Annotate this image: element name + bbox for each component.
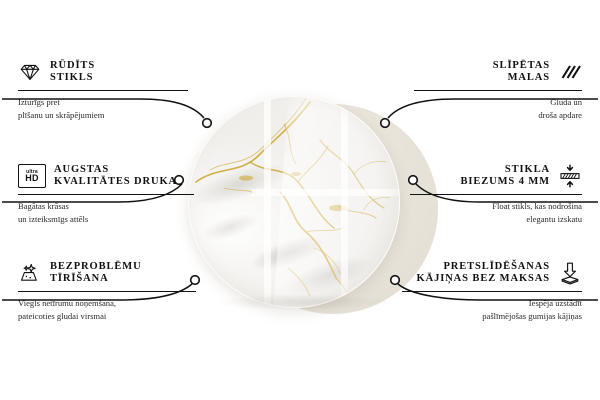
feature-tempered-glass: RŪDĪTS STIKLS Izturīgs pret plīšanu un s… [18,60,188,121]
divider [410,194,582,195]
feature-title: PRETSLĪDĒŠANAS KĀJIŅAS BEZ MAKSAS [417,261,550,286]
feature-anti-slip-feet: PRETSLĪDĒŠANAS KĀJIŅAS BEZ MAKSAS Iespēj… [402,261,582,322]
divider [402,291,582,292]
divider [414,90,582,91]
thickness-arrows-icon [558,164,582,188]
divider [18,90,188,91]
infographic-stage: RŪDĪTS STIKLS Izturīgs pret plīšanu un s… [0,0,600,400]
diagonal-stripes-icon [558,60,582,84]
sparkle-cleaning-icon [18,261,42,285]
connector-dot [381,119,390,128]
feature-title: STIKLA BIEZUMS 4 MM [460,164,550,189]
press-pad-icon [558,261,582,285]
feature-title: SLĪPĒTAS MALAS [493,60,550,85]
feature-high-quality-print: ultra HD AUGSTAS KVALITĀTES DRUKA Bagāta… [18,164,194,225]
connector-dot [203,119,212,128]
feature-polished-edges: SLĪPĒTAS MALAS Gluda un droša apdare [414,60,582,121]
feature-glass-thickness: STIKLA BIEZUMS 4 MM Float stikls, kas no… [410,164,582,225]
ultra-hd-icon: ultra HD [18,164,46,188]
feature-description: Gluda un droša apdare [414,96,582,121]
divider [18,291,196,292]
feature-description: Bagātas krāsas un izteiksmīgs attēls [18,200,194,225]
divider [18,194,194,195]
diamond-icon [18,60,42,84]
feature-description: Izturīgs pret plīšanu un skrāpējumiem [18,96,188,121]
feature-title: RŪDĪTS STIKLS [50,60,95,85]
feature-description: Float stikls, kas nodrošina elegantu izs… [410,200,582,225]
feature-easy-cleaning: BEZPROBLĒMU TĪRĪŠANA Viegls netīrumu noņ… [18,261,196,322]
feature-title: BEZPROBLĒMU TĪRĪŠANA [50,261,142,286]
connector-dot [391,276,400,285]
feature-title: AUGSTAS KVALITĀTES DRUKA [54,164,177,189]
feature-description: Viegls netīrumu noņemšana, pateicoties g… [18,297,196,322]
feature-description: Iespēja uzstādīt pašlīmējošas gumijas kā… [402,297,582,322]
